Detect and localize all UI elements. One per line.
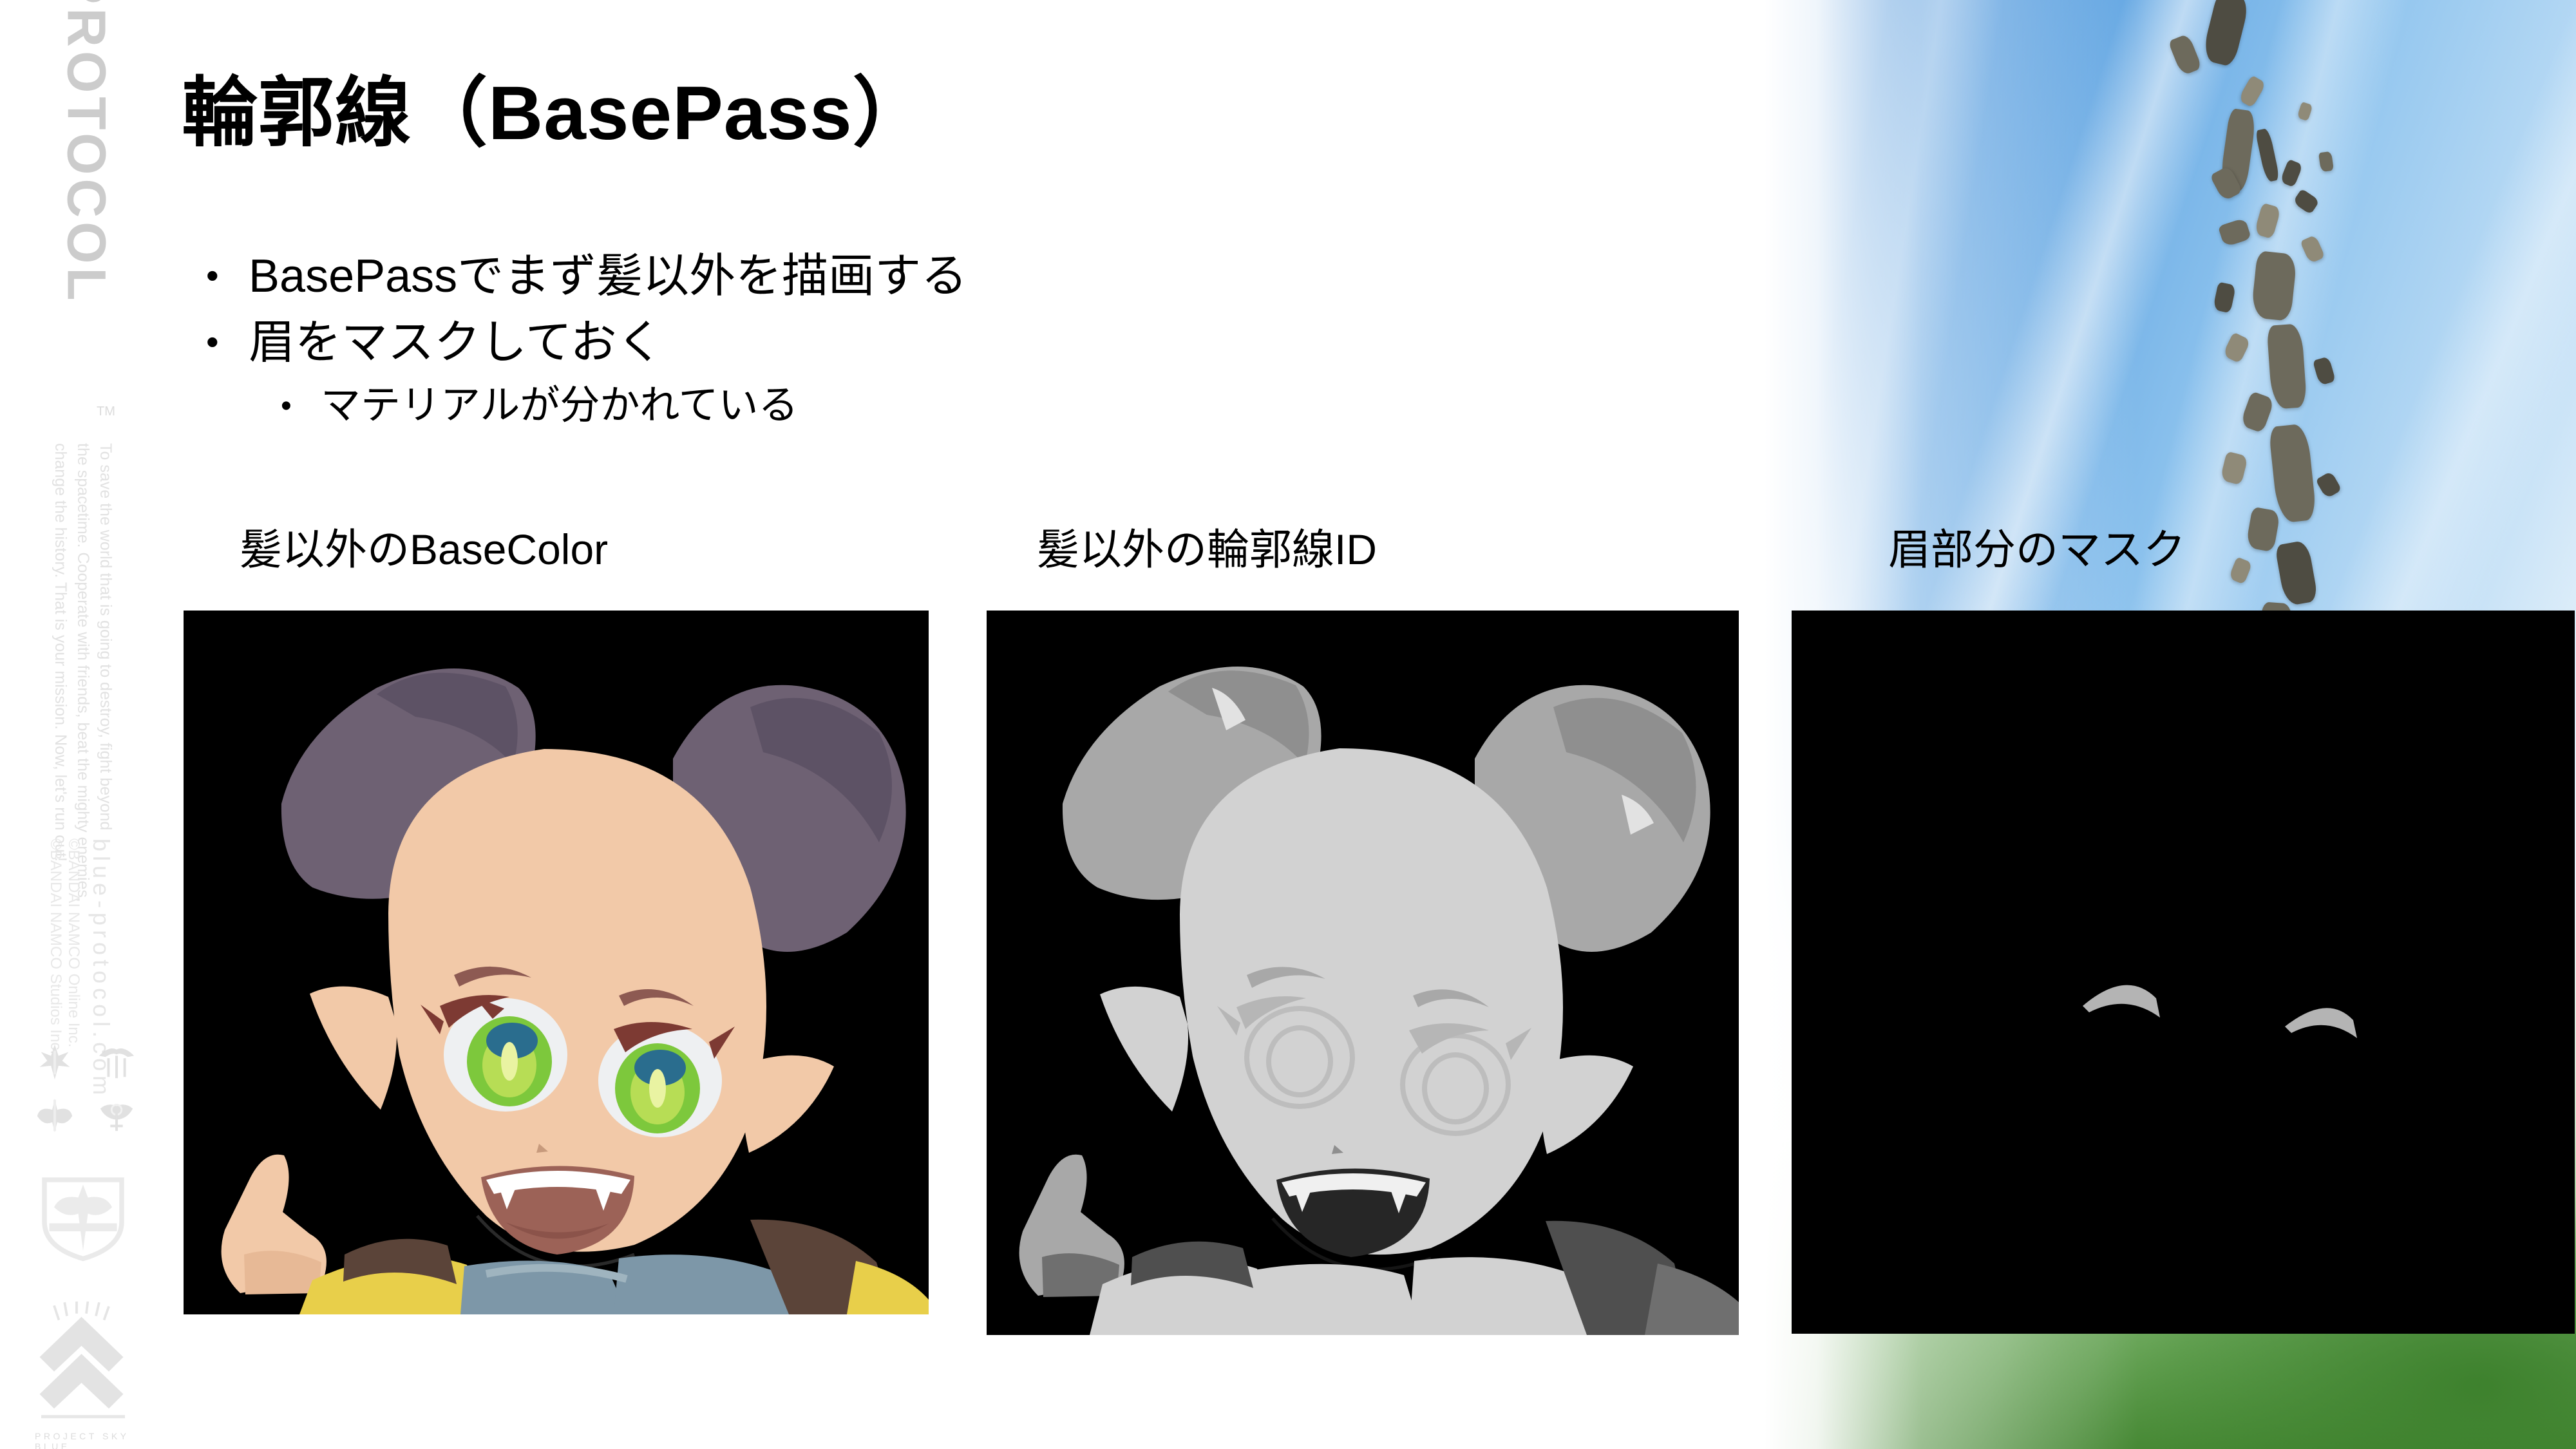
figure-caption-2: 髪以外の輪郭線ID — [1037, 515, 1377, 577]
figure-panel-eyebrow-mask — [1792, 611, 2575, 1334]
tagline-line-2: the spacetime. Cooperate with friends, b… — [73, 443, 92, 902]
eyebrow-mask-render — [1792, 611, 2575, 1334]
presentation-slide: BLUE PROTOCOL TM To save the world that … — [0, 0, 2576, 1449]
bullet-text-1: BasePassでまず髪以外を描画する — [249, 245, 967, 308]
staff-emblem-icon — [97, 1095, 137, 1135]
blade-emblem-icon — [35, 1042, 75, 1082]
bullet-marker-icon: • — [206, 245, 249, 307]
bullet-text-2: 眉をマスクしておく — [249, 311, 663, 375]
brand-strip: BLUE PROTOCOL TM To save the world that … — [0, 0, 174, 1449]
bullet-text-3: マテリアルが分かれている — [321, 378, 799, 434]
class-emblems: PROJECT SKY BLUE — [35, 1042, 144, 1449]
sub-bullet-marker-icon: • — [281, 378, 321, 434]
bullet-item-2: • 眉をマスクしておく — [206, 311, 1687, 375]
figure-caption-3: 眉部分のマスク — [1888, 515, 2186, 577]
bullet-item-1: • BasePassでまず髪以外を描画する — [206, 245, 1687, 308]
outline-id-character-render — [987, 611, 1739, 1335]
tagline-line-3: change the history. That is your mission… — [51, 443, 70, 862]
base-color-character-render — [184, 611, 929, 1314]
bullet-list: • BasePassでまず髪以外を描画する • 眉をマスクしておく • マテリア… — [206, 245, 1687, 434]
bullet-marker-icon: • — [206, 311, 249, 373]
bullet-item-3: • マテリアルが分かれている — [281, 378, 1687, 434]
copyright-studios: ©BANDAI NAMCO Studios Inc. — [46, 838, 64, 1054]
blue-protocol-logo-text: BLUE PROTOCOL — [55, 0, 118, 305]
guild-crest-icon — [35, 1173, 131, 1264]
figure-panel-outline-id — [987, 611, 1739, 1335]
slide-title: 輪郭線（BasePass） — [182, 66, 929, 162]
twin-sword-emblem-icon — [97, 1042, 137, 1082]
copyright-online: ©BANDAI NAMCO Online Inc. — [64, 838, 82, 1047]
blue-protocol-logo: BLUE PROTOCOL — [57, 14, 116, 426]
project-sky-blue-label: PROJECT SKY BLUE — [35, 1431, 144, 1449]
project-sky-blue-mark-icon — [35, 1302, 131, 1424]
trademark-symbol: TM — [97, 404, 115, 419]
axe-emblem-icon — [35, 1095, 75, 1135]
figure-caption-1: 髪以外のBaseColor — [240, 515, 608, 577]
tagline-line-1: To save the world that is going to destr… — [96, 443, 115, 830]
figure-panel-base-color — [184, 611, 929, 1314]
